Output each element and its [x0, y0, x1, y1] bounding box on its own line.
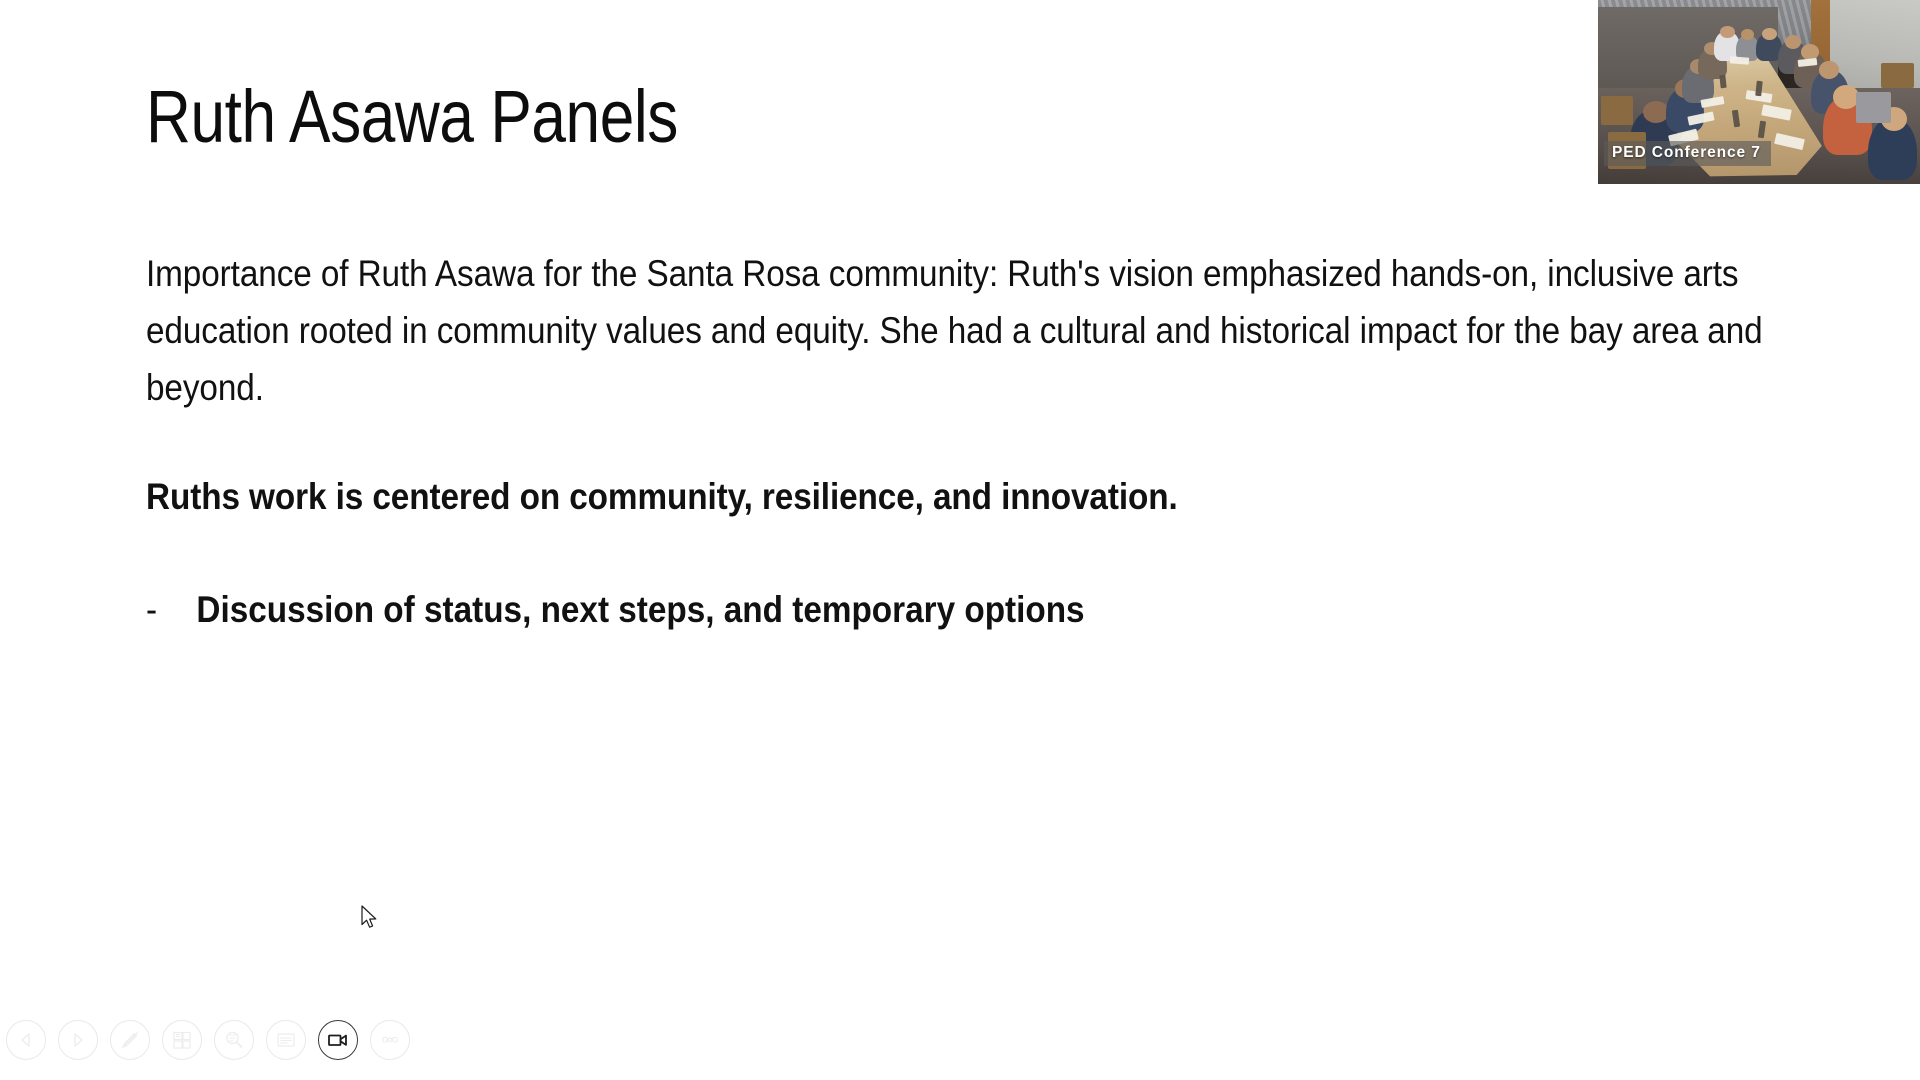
bullet-marker: -	[146, 581, 196, 638]
body-paragraph: Importance of Ruth Asawa for the Santa R…	[146, 245, 1824, 416]
pen-tools-button[interactable]	[110, 1020, 150, 1060]
slide-body: Importance of Ruth Asawa for the Santa R…	[146, 245, 1826, 638]
zoom-slide-button[interactable]	[214, 1020, 254, 1060]
all-slides-button[interactable]	[162, 1020, 202, 1060]
previous-slide-button[interactable]	[6, 1020, 46, 1060]
video-feed-panel[interactable]: PED Conference 7	[1598, 0, 1920, 184]
more-options-button[interactable]	[370, 1020, 410, 1060]
bullet-item: - Discussion of status, next steps, and …	[146, 581, 1824, 638]
slideshow-toolbar	[6, 1008, 410, 1072]
next-slide-button[interactable]	[58, 1020, 98, 1060]
bullet-label: Discussion of status, next steps, and te…	[196, 581, 1824, 638]
camera-button[interactable]	[318, 1020, 358, 1060]
emphasis-line: Ruths work is centered on community, res…	[146, 468, 1824, 525]
video-participant-label: PED Conference 7	[1604, 141, 1771, 166]
subtitles-button[interactable]	[266, 1020, 306, 1060]
page-title: Ruth Asawa Panels	[146, 78, 678, 156]
